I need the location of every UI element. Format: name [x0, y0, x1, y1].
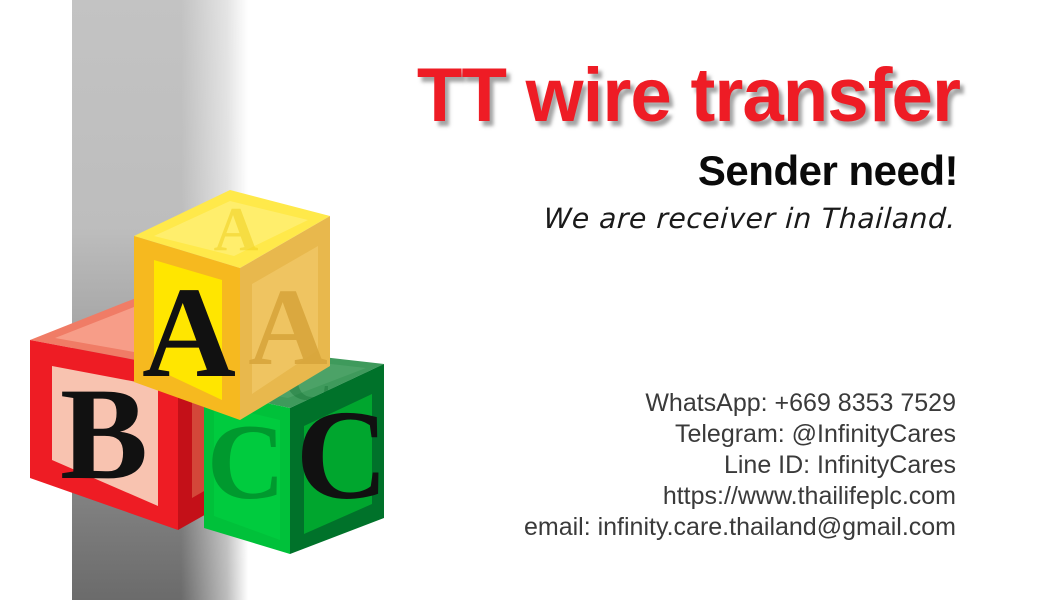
page-title: TT wire transfer — [19, 58, 960, 134]
contact-block: WhatsApp: +669 8353 7529 Telegram: @Infi… — [0, 388, 956, 543]
contact-line-email[interactable]: email: infinity.care.thailand@gmail.com — [0, 512, 956, 543]
contact-line-telegram: Telegram: @InfinityCares — [0, 419, 956, 450]
contact-line-whatsapp: WhatsApp: +669 8353 7529 — [0, 388, 956, 419]
svg-text:A: A — [142, 261, 236, 405]
subtitle: Sender need! — [0, 150, 958, 192]
svg-text:A: A — [248, 266, 327, 388]
flyer-card: B C C C — [0, 0, 1063, 600]
contact-line-website[interactable]: https://www.thailifeplc.com — [0, 481, 956, 512]
tagline: We are receiver in Thailand. — [0, 202, 957, 236]
contact-line-lineid: Line ID: InfinityCares — [0, 450, 956, 481]
